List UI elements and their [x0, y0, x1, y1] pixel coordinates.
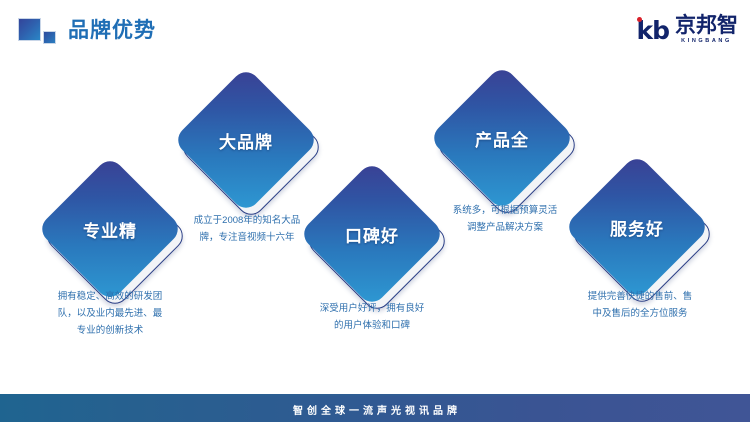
feature-diamond-1[interactable]: 专业精 [58, 177, 162, 281]
logo-english-name: KINGBANG [675, 37, 738, 45]
feature-label-3: 口碑好 [320, 182, 424, 286]
feature-label-5: 服务好 [585, 175, 689, 279]
decorative-square-large-icon [18, 18, 41, 41]
header-decoration [18, 18, 58, 48]
decorative-square-small-icon [43, 31, 56, 44]
feature-caption-3: 深受用户好评，拥有良好 的用户体验和口碑 [297, 300, 447, 334]
feature-label-4: 产品全 [450, 86, 554, 190]
footer-slogan: 智创全球一流声光视讯品牌 [289, 402, 461, 417]
feature-diamond-4[interactable]: 产品全 [450, 86, 554, 190]
logo-mark-icon: kb [636, 16, 669, 44]
feature-caption-5: 提供完善快捷的售前、售 中及售后的全方位服务 [565, 288, 715, 322]
feature-label-1: 专业精 [58, 177, 162, 281]
slide-header: 品牌优势 kb 京邦智 KINGBANG [0, 0, 750, 66]
feature-caption-1: 拥有稳定、高效的研发团 队，以及业内最先进、最 专业的创新技术 [35, 288, 185, 339]
feature-label-2: 大品牌 [194, 88, 298, 192]
logo-chinese-name: 京邦智 [675, 15, 738, 36]
feature-diamond-3[interactable]: 口碑好 [320, 182, 424, 286]
logo-text-block: 京邦智 KINGBANG [675, 15, 738, 45]
slide-footer: 智创全球一流声光视讯品牌 [0, 396, 750, 422]
feature-diamond-5[interactable]: 服务好 [585, 175, 689, 279]
page-title: 品牌优势 [68, 16, 156, 46]
slide-root: 品牌优势 kb 京邦智 KINGBANG 专业精 拥有稳定、高效的研发团 队，以… [0, 0, 750, 422]
feature-caption-4: 系统多，可根据预算灵活 调整产品解决方案 [430, 202, 580, 236]
logo-mark-text: kb [636, 18, 669, 44]
feature-caption-2: 成立于2008年的知名大品 牌，专注音视频十六年 [172, 212, 322, 246]
brand-logo: kb 京邦智 KINGBANG [636, 13, 738, 47]
feature-diamond-2[interactable]: 大品牌 [194, 88, 298, 192]
